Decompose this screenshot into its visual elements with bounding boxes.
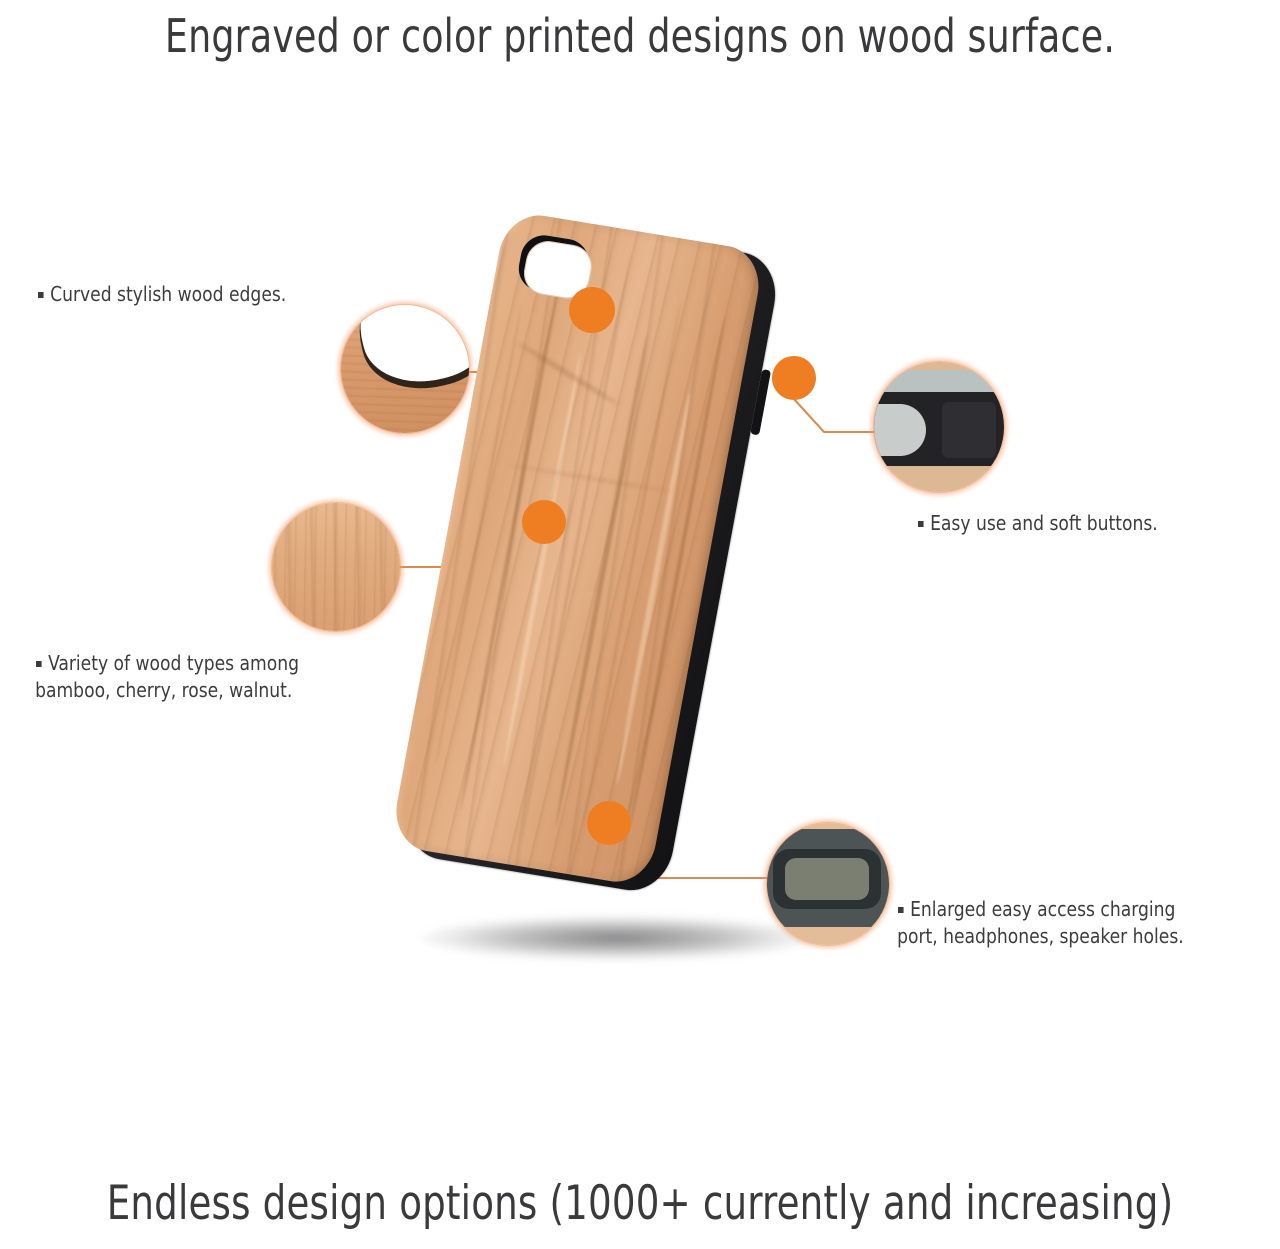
detail-circle-charging-port-closeup <box>767 823 889 945</box>
detail-circle-wood-edge-closeup <box>341 305 469 433</box>
detail-circle-wood-grain-closeup <box>272 503 400 631</box>
callout-line-1: Easy use and soft buttons. <box>930 511 1158 535</box>
callout-line-2: bamboo, cherry, rose, walnut. <box>35 677 299 704</box>
side-button-notch <box>750 369 771 435</box>
drop-shadow <box>422 916 812 960</box>
connector-soft-buttons <box>793 398 880 432</box>
bullet-icon <box>36 661 42 667</box>
power-button-shape <box>942 402 996 458</box>
bullet-icon <box>918 521 924 527</box>
page-title-top: Engraved or color printed designs on woo… <box>77 9 1203 63</box>
volume-button-shape <box>874 404 926 456</box>
callout-line-1: Variety of wood types among <box>48 651 299 675</box>
callout-label-wood-variety: Variety of wood types among bamboo, cher… <box>36 650 299 704</box>
callout-line-1: Curved stylish wood edges. <box>50 282 286 306</box>
callout-line-2: port, headphones, speaker holes. <box>897 923 1184 950</box>
marker-dot-curved-edges[interactable] <box>569 287 615 333</box>
marker-dot-wood-variety[interactable] <box>522 500 566 544</box>
marker-dot-charging-port[interactable] <box>587 801 631 845</box>
charging-port-opening <box>785 858 869 900</box>
page-title-bottom: Endless design options (1000+ currently … <box>77 1176 1203 1231</box>
bullet-icon <box>38 292 44 298</box>
callout-label-soft-buttons: Easy use and soft buttons. <box>918 510 1158 537</box>
marker-dot-soft-buttons[interactable] <box>772 356 816 400</box>
detail-circle-side-button-closeup <box>874 362 1004 492</box>
infographic-canvas: Engraved or color printed designs on woo… <box>0 0 1280 1249</box>
bullet-icon <box>898 907 904 913</box>
callout-line-1: Enlarged easy access charging <box>910 897 1175 921</box>
wood-grain-texture <box>272 503 400 631</box>
callout-label-curved-edges: Curved stylish wood edges. <box>38 281 286 308</box>
callout-label-charging-port: Enlarged easy access charging port, head… <box>898 896 1184 950</box>
